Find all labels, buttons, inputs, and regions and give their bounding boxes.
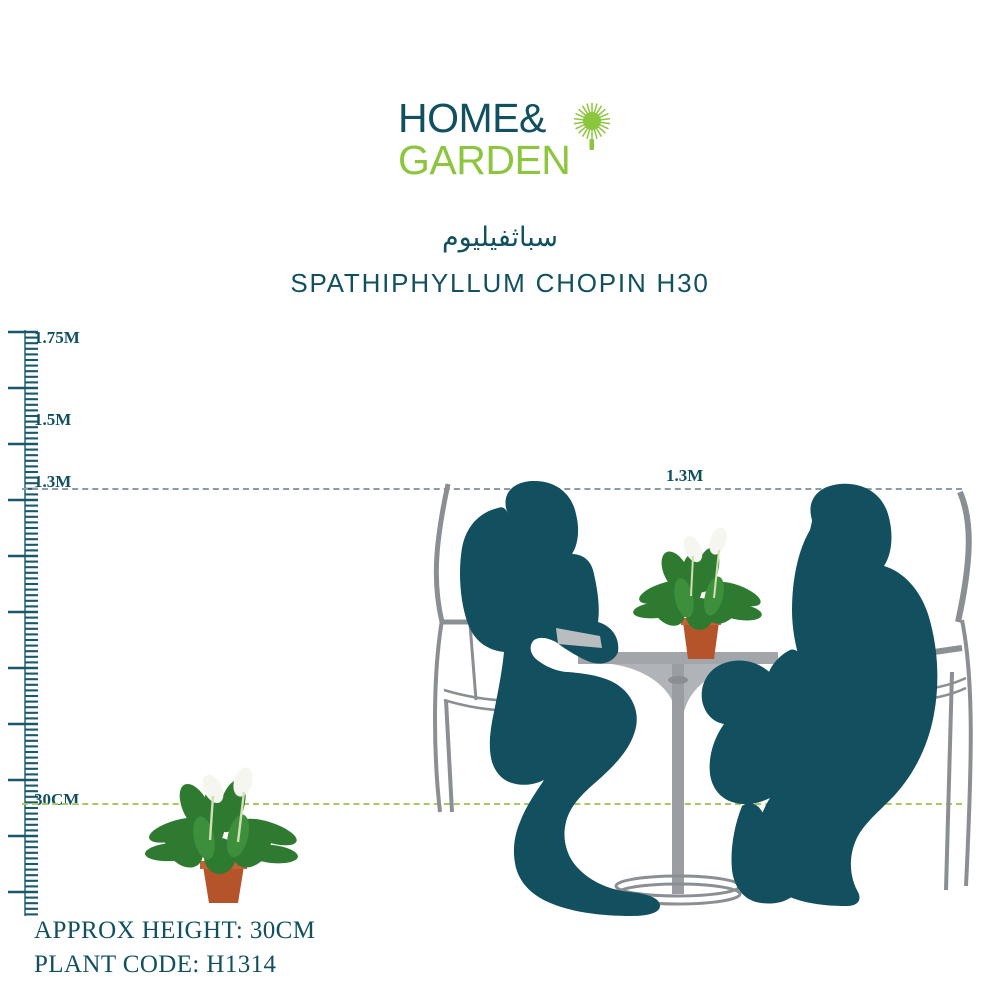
product-scale-poster: HOME& GARDEN	[0, 0, 1000, 1000]
plant-code-text: PLANT CODE: H1314	[34, 948, 315, 982]
product-name-english: SPATHIPHYLLUM CHOPIN H30	[0, 268, 1000, 299]
ruler-label-15m: 1.5M	[34, 410, 71, 430]
brand-logo: HOME& GARDEN	[398, 96, 608, 188]
scene-label-1-3m: 1.3M	[660, 466, 709, 486]
product-name-arabic: سباثفيليوم	[0, 222, 1000, 253]
right-person-legs	[731, 803, 797, 903]
left-chair	[435, 484, 570, 812]
approx-height-text: APPROX HEIGHT: 30CM	[34, 914, 315, 948]
guideline-30cm	[22, 803, 962, 805]
right-person-silhouette	[702, 484, 938, 906]
left-person-device	[556, 628, 602, 648]
guideline-1-3m	[22, 488, 962, 490]
palm-burst-icon	[568, 101, 612, 151]
brand-logo-line1: HOME&	[398, 96, 546, 140]
ruler-label-30cm: 30CM	[34, 790, 79, 810]
caption-block: APPROX HEIGHT: 30CM PLANT CODE: H1314	[34, 914, 315, 982]
right-chair	[836, 492, 971, 890]
brand-logo-line2: GARDEN	[398, 138, 570, 182]
left-person-silhouette	[460, 481, 660, 916]
spathiphyllum-on-table	[632, 525, 763, 659]
spathiphyllum-on-floor	[144, 765, 299, 903]
cafe-table	[578, 652, 778, 904]
ruler-label-175m: 1.75M	[34, 328, 80, 348]
right-person-arm	[766, 649, 812, 712]
